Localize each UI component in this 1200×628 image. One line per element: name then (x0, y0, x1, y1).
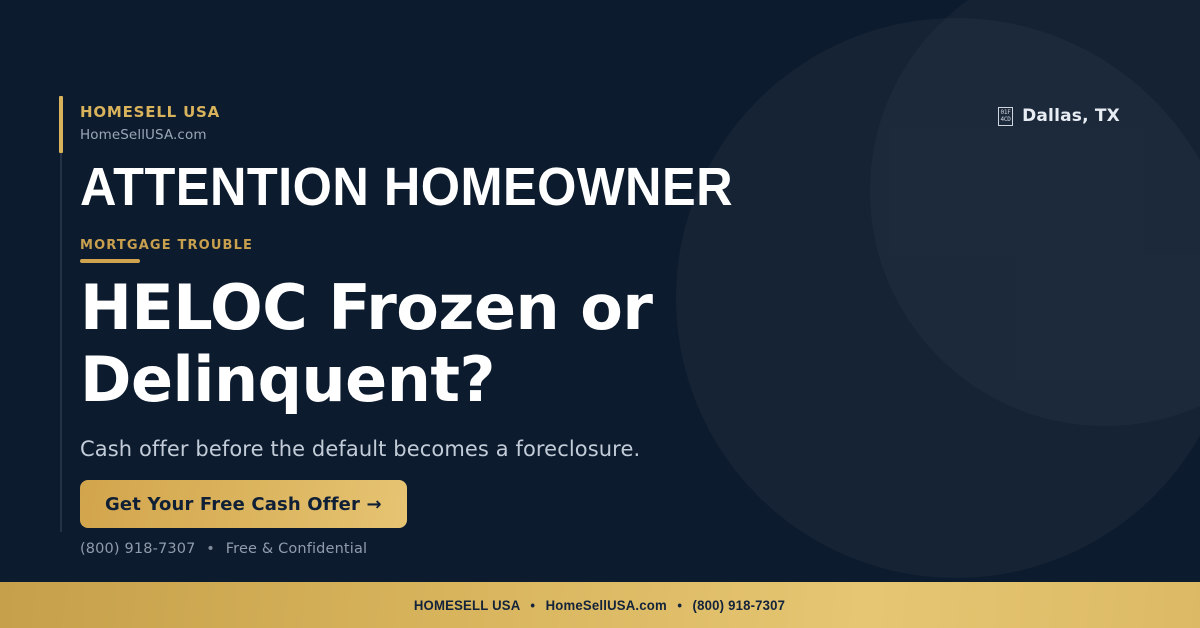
page-title: HELOC Frozen or Delinquent? (80, 272, 740, 416)
phone-number: (800) 918-7307 (80, 541, 196, 557)
brand-name: HOMESELL USA (80, 104, 220, 121)
ad-banner: HOMESELL USA HomeSellUSA.com 01F 4CD Dal… (0, 0, 1200, 628)
attention-headline: ATTENTION HOMEOWNER (80, 157, 733, 217)
location-badge: 01F 4CD Dallas, TX (998, 106, 1120, 126)
eyebrow-label: MORTGAGE TROUBLE (80, 238, 253, 253)
brand-block: HOMESELL USA HomeSellUSA.com (80, 104, 220, 143)
reassurance-separator: • (200, 541, 221, 557)
location-label: Dallas, TX (1022, 106, 1120, 126)
pushpin-codepoint-bottom: 4CD (1000, 116, 1010, 124)
footer-brand: HOMESELL USA (414, 597, 520, 613)
reassurance-line: (800) 918-7307 • Free & Confidential (80, 541, 367, 557)
brand-row: HOMESELL USA HomeSellUSA.com 01F 4CD Dal… (80, 104, 1120, 143)
reassurance-note: Free & Confidential (226, 541, 367, 557)
eyebrow-underline (80, 259, 140, 263)
brand-website: HomeSellUSA.com (80, 127, 220, 143)
pushpin-codepoint-top: 01F (1000, 109, 1010, 117)
footer-separator-2: • (671, 597, 689, 613)
round-pushpin-icon: 01F 4CD (998, 107, 1013, 126)
banner-content: HOMESELL USA HomeSellUSA.com 01F 4CD Dal… (80, 0, 1120, 582)
subheadline: Cash offer before the default becomes a … (80, 435, 640, 464)
footer-text: HOMESELL USA • HomeSellUSA.com • (800) 9… (414, 597, 785, 613)
cash-offer-cta-button[interactable]: Get Your Free Cash Offer → (80, 480, 407, 528)
left-vertical-rule (60, 96, 62, 532)
left-accent-bar (59, 96, 63, 153)
footer-website: HomeSellUSA.com (546, 597, 667, 613)
footer-bar: HOMESELL USA • HomeSellUSA.com • (800) 9… (0, 582, 1200, 628)
footer-separator-1: • (524, 597, 542, 613)
footer-phone: (800) 918-7307 (693, 597, 786, 613)
